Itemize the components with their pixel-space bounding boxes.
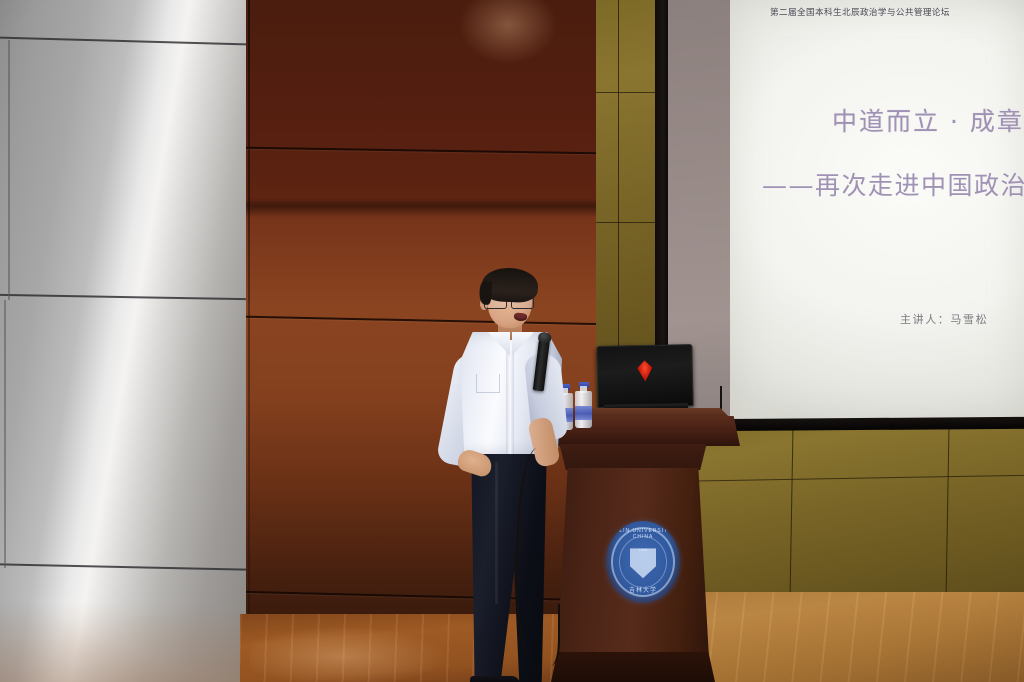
lecture-hall-photo: 第二届全国本科生北辰政治学与公共管理论坛 中道而立 · 成章以达 ——再次走进中… — [0, 0, 1024, 682]
emblem-chinese-text: 吉林大学 — [606, 585, 680, 594]
screen-bottom-bar — [700, 417, 1024, 431]
laptop-logo-icon — [637, 360, 653, 382]
microphone-head — [538, 331, 552, 343]
slide-title-line-1: 中道而立 · 成章以达 — [832, 102, 1024, 138]
shirt-placket — [506, 350, 514, 454]
metal-panel-edge — [8, 40, 10, 300]
emblem-arc-text: JILIN UNIVERSITY CHINA — [606, 528, 680, 540]
stage-floor-right — [660, 592, 1024, 682]
presenter — [436, 262, 596, 682]
slide-title-line-2: ——再次走进中国政治分析 — [762, 166, 1024, 202]
shirt-pocket — [476, 374, 500, 393]
slide-header-text: 第二届全国本科生北辰政治学与公共管理论坛 — [770, 6, 1010, 18]
metal-panel-edge — [4, 300, 6, 568]
slide-speaker-name: 主讲人：马雪松 — [900, 311, 988, 327]
laptop — [596, 344, 693, 408]
jilin-university-emblem-icon: JILIN UNIVERSITY CHINA 1946 吉林大学 — [606, 521, 680, 603]
olive-panel-wall-lower — [660, 420, 1024, 606]
olive-panel-seam — [596, 222, 660, 223]
projection-screen: 第二届全国本科生北辰政治学与公共管理论坛 中道而立 · 成章以达 ——再次走进中… — [730, 0, 1024, 422]
metal-panel-wall — [0, 0, 246, 682]
floor-cable — [536, 604, 560, 666]
emblem-year-text: 1946 — [606, 547, 680, 552]
olive-panel-seam — [596, 92, 660, 93]
presenter-shoe — [470, 676, 520, 682]
presenter-hair — [481, 267, 539, 304]
